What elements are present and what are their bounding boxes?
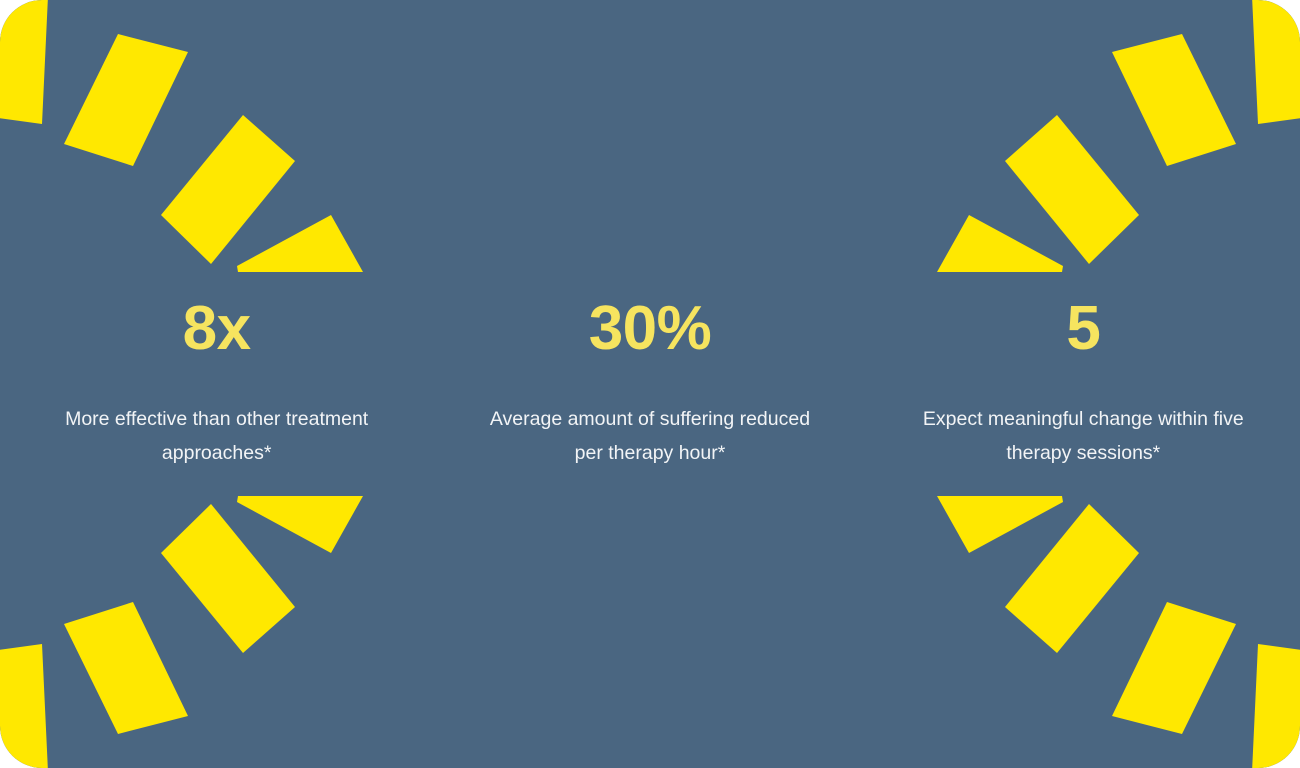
stat-value-sessions: 5: [1066, 298, 1100, 360]
stat-column-suffering-reduction: 30% Average amount of suffering reduced …: [433, 298, 866, 470]
stat-value-suffering-reduction: 30%: [589, 298, 712, 360]
stat-value-effectiveness: 8x: [183, 298, 251, 360]
stat-label-effectiveness: More effective than other treatment appr…: [47, 402, 387, 470]
stat-label-suffering-reduction: Average amount of suffering reduced per …: [485, 402, 815, 470]
stat-column-sessions: 5 Expect meaningful change within five t…: [867, 298, 1300, 470]
stats-row: 8x More effective than other treatment a…: [0, 0, 1300, 768]
stats-card: 8x More effective than other treatment a…: [0, 0, 1300, 768]
stat-column-effectiveness: 8x More effective than other treatment a…: [0, 298, 433, 470]
stat-label-sessions: Expect meaningful change within five the…: [903, 402, 1263, 470]
